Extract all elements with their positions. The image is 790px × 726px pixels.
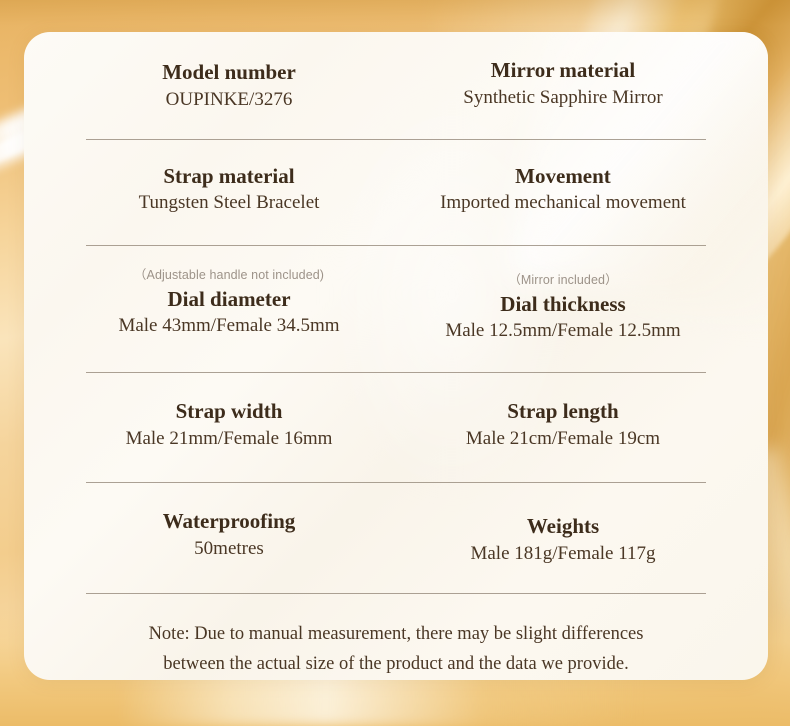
spec-label: Waterproofing [68, 509, 390, 534]
spec-label: Strap material [68, 164, 390, 189]
measurement-disclaimer: Note: Due to manual measurement, there m… [62, 594, 730, 680]
row-spacer [62, 451, 730, 482]
disclaimer-line-1: Note: Due to manual measurement, there m… [106, 620, 686, 650]
spec-label: Mirror material [402, 58, 724, 83]
spec-cell-strap-length: Strap length Male 21cm/Female 19cm [396, 399, 730, 451]
spec-cell-weights: Weights Male 181g/Female 117g [396, 509, 730, 566]
table-row: Model number OUPINKE/3276 Mirror materia… [62, 32, 730, 112]
spec-cell-strap-width: Strap width Male 21mm/Female 16mm [62, 399, 396, 451]
spec-label: Dial thickness [402, 292, 724, 317]
row-divider [86, 593, 706, 594]
spec-value: Male 21mm/Female 16mm [68, 428, 390, 451]
table-row: Waterproofing 50metres Weights Male 181g… [62, 483, 730, 566]
spec-cell-waterproofing: Waterproofing 50metres [62, 509, 396, 566]
spec-label: Movement [402, 164, 724, 189]
spec-annotation: （Mirror included） [402, 274, 724, 287]
spec-label: Weights [402, 514, 724, 539]
spec-label: Dial diameter [68, 287, 390, 312]
spec-cell-dial-thickness: （Mirror included） Dial thickness Male 12… [396, 269, 730, 343]
table-row: （Adjustable handle not included) Dial di… [62, 246, 730, 343]
spec-value: Male 21cm/Female 19cm [402, 428, 724, 451]
spec-cell-strap-material: Strap material Tungsten Steel Bracelet [62, 164, 396, 216]
spec-value: Synthetic Sapphire Mirror [402, 87, 724, 110]
spec-value: 50metres [68, 538, 390, 561]
spec-label: Model number [68, 60, 390, 85]
spec-value: Male 181g/Female 117g [402, 543, 724, 566]
spec-value: Imported mechanical movement [402, 192, 724, 215]
spec-label: Strap width [68, 399, 390, 424]
spec-cell-dial-diameter: （Adjustable handle not included) Dial di… [62, 269, 396, 343]
spec-annotation: （Adjustable handle not included) [68, 269, 390, 282]
spec-cell-mirror-material: Mirror material Synthetic Sapphire Mirro… [396, 58, 730, 112]
row-spacer [62, 215, 730, 245]
spec-cell-model-number: Model number OUPINKE/3276 [62, 58, 396, 112]
disclaimer-line-2: between the actual size of the product a… [106, 650, 686, 680]
specification-card: Model number OUPINKE/3276 Mirror materia… [24, 32, 768, 680]
spec-value: Male 43mm/Female 34.5mm [68, 315, 390, 338]
row-spacer [62, 112, 730, 139]
row-spacer [62, 565, 730, 593]
table-row: Strap material Tungsten Steel Bracelet M… [62, 140, 730, 216]
table-row: Strap width Male 21mm/Female 16mm Strap … [62, 373, 730, 451]
specification-table: Model number OUPINKE/3276 Mirror materia… [24, 32, 768, 680]
spec-label: Strap length [402, 399, 724, 424]
spec-value: Tungsten Steel Bracelet [68, 192, 390, 215]
spec-value: Male 12.5mm/Female 12.5mm [402, 320, 724, 343]
row-spacer [62, 343, 730, 372]
spec-value: OUPINKE/3276 [68, 89, 390, 112]
spec-cell-movement: Movement Imported mechanical movement [396, 164, 730, 216]
